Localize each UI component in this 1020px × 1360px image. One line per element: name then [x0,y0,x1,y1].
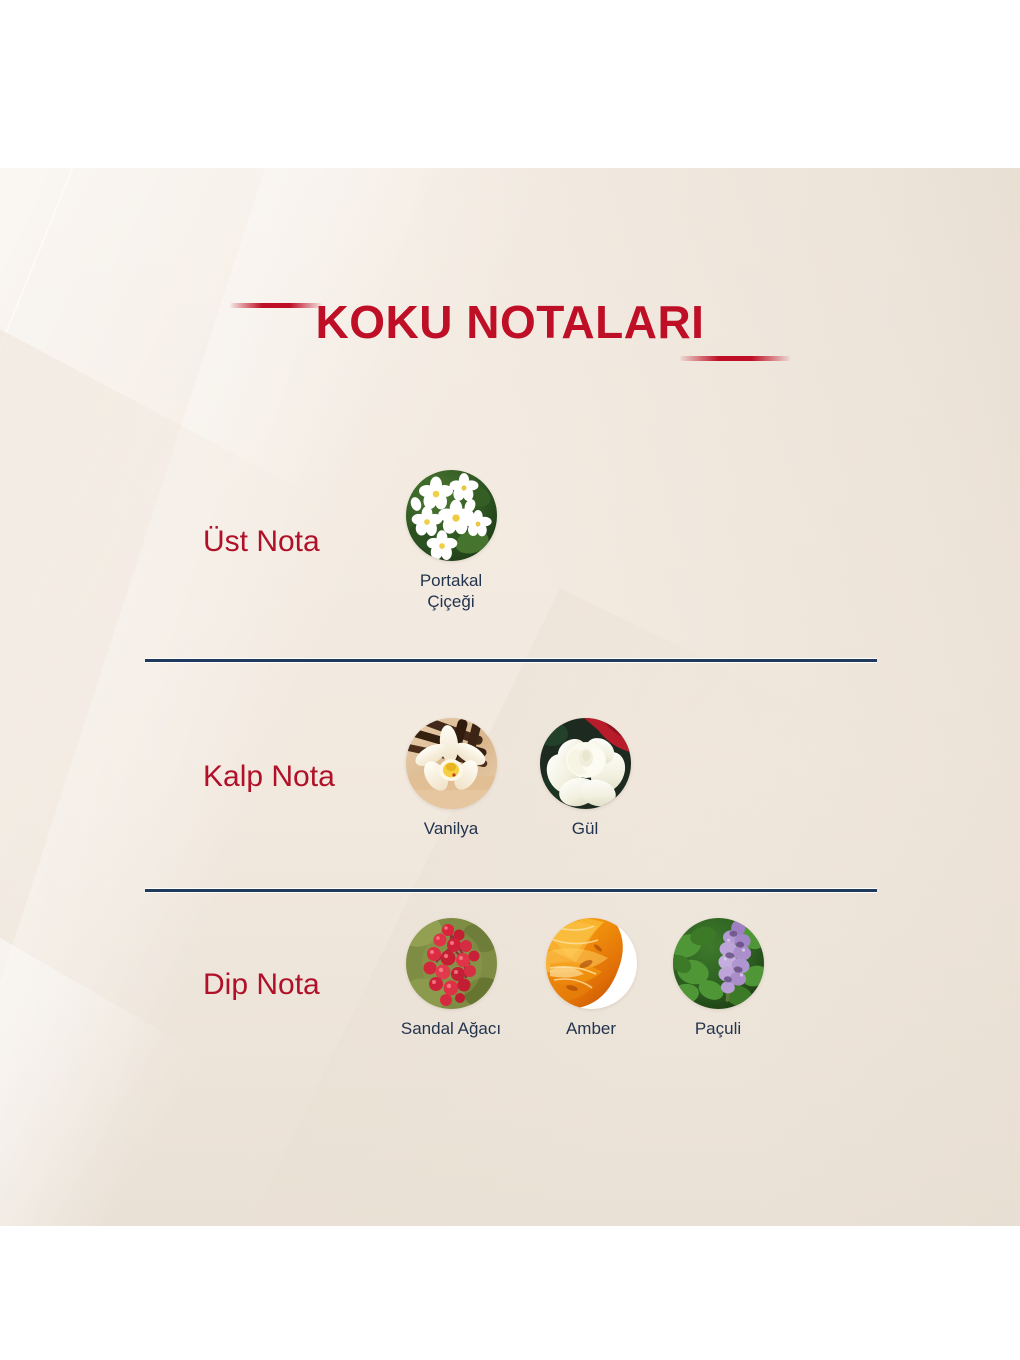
divider-top-heart [145,658,877,664]
title-rule-right-icon [680,356,790,361]
white-rose-icon [540,718,631,809]
background-streak [165,588,829,1226]
content-panel: KOKU NOTALARI Üst Nota [0,168,1020,1226]
note-item-label: Paçuli [655,1018,781,1039]
vanilla-orchid-icon [406,718,497,809]
page-title-block: KOKU NOTALARI [0,292,1020,372]
note-label-heart: Kalp Nota [203,760,335,794]
page-title: KOKU NOTALARI [0,292,1020,352]
note-label-top: Üst Nota [203,525,320,559]
amber-resin-icon [546,918,637,1009]
note-item[interactable]: Amber [528,918,654,1039]
note-item[interactable]: Vanilya [388,718,514,839]
sandalwood-berries-icon [406,918,497,1009]
note-item-label: Portakal Çiçeği [388,570,514,612]
note-item[interactable]: Gül [522,718,648,839]
divider-heart-base [145,888,877,894]
note-item[interactable]: Portakal Çiçeği [388,470,514,612]
note-item[interactable]: Paçuli [655,918,781,1039]
note-item-label: Sandal Ağacı [388,1018,514,1039]
note-row-top: Üst Nota [0,460,1020,650]
note-item-label: Gül [522,818,648,839]
note-row-heart: Kalp Nota [0,708,1020,883]
note-item-label: Vanilya [388,818,514,839]
note-row-base: Dip Nota [0,908,1020,1088]
note-item-label: Amber [528,1018,654,1039]
note-label-base: Dip Nota [203,968,320,1002]
fragrance-notes-infographic: KOKU NOTALARI Üst Nota [0,0,1020,1360]
patchouli-mint-icon [673,918,764,1009]
note-item[interactable]: Sandal Ağacı [388,918,514,1039]
orange-blossom-icon [406,470,497,561]
